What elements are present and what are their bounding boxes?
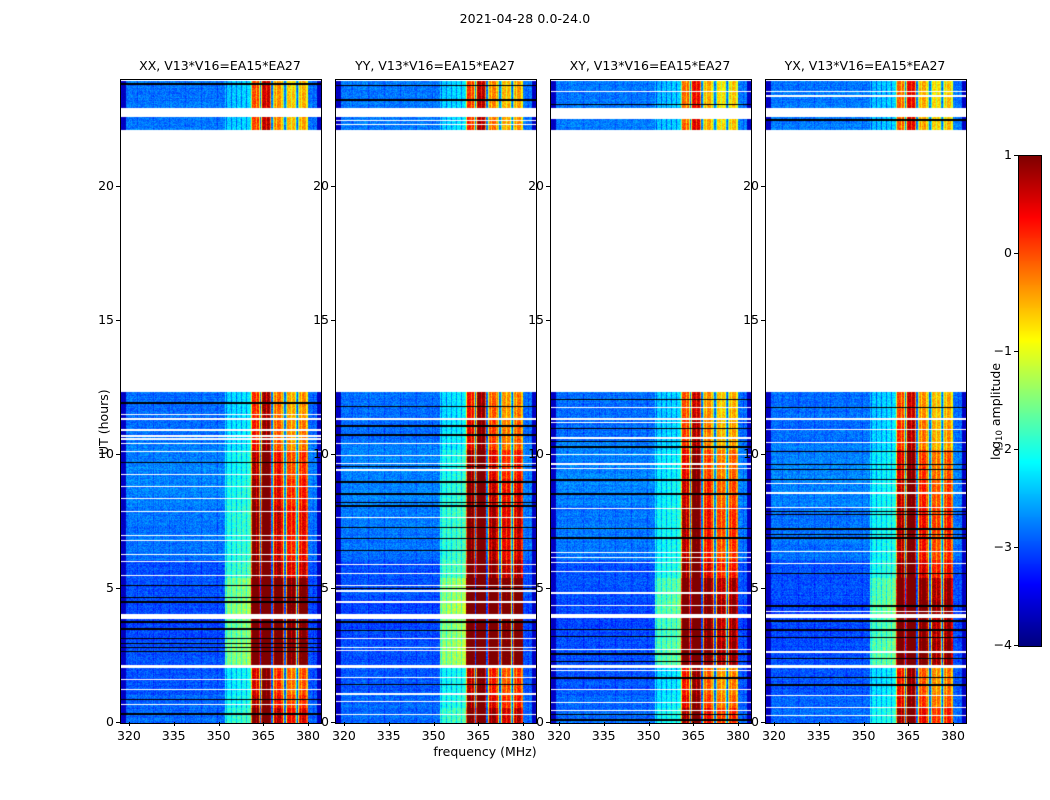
x-tick-label: 350: [629, 728, 669, 743]
x-tick-label: 350: [414, 728, 454, 743]
heatmap-image-yx: [766, 80, 966, 723]
y-tick-mark: [116, 454, 120, 455]
y-tick-mark: [331, 722, 335, 723]
y-tick-mark: [116, 186, 120, 187]
x-tick-mark: [819, 722, 820, 726]
y-tick-label: 10: [299, 446, 329, 461]
x-tick-mark: [908, 722, 909, 726]
y-tick-label: 0: [299, 714, 329, 729]
colorbar-tick-mark: [1014, 645, 1018, 646]
x-tick-mark: [129, 722, 130, 726]
y-tick-mark: [546, 588, 550, 589]
x-tick-mark: [693, 722, 694, 726]
y-tick-label: 10: [729, 446, 759, 461]
colorbar-tick-label: −2: [978, 441, 1012, 456]
colorbar-tick-mark: [1014, 547, 1018, 548]
y-tick-label: 10: [84, 446, 114, 461]
y-tick-label: 5: [514, 580, 544, 595]
y-tick-label: 5: [299, 580, 329, 595]
y-tick-mark: [761, 186, 765, 187]
x-tick-label: 320: [324, 728, 364, 743]
x-tick-label: 335: [584, 728, 624, 743]
x-tick-label: 380: [718, 728, 758, 743]
y-tick-mark: [331, 186, 335, 187]
x-tick-mark: [434, 722, 435, 726]
y-tick-label: 20: [84, 178, 114, 193]
colorbar-tick-mark: [1014, 155, 1018, 156]
colorbar-tick-label: −3: [978, 539, 1012, 554]
x-tick-mark: [559, 722, 560, 726]
x-tick-mark: [174, 722, 175, 726]
y-tick-mark: [761, 320, 765, 321]
y-tick-label: 0: [84, 714, 114, 729]
y-tick-label: 0: [729, 714, 759, 729]
y-tick-mark: [761, 588, 765, 589]
heatmap-panel-xy[interactable]: [550, 79, 752, 724]
x-tick-label: 365: [243, 728, 283, 743]
y-tick-mark: [761, 454, 765, 455]
x-tick-label: 320: [539, 728, 579, 743]
y-tick-label: 15: [299, 312, 329, 327]
figure-suptitle: 2021-04-28 0.0-24.0: [0, 11, 1050, 26]
x-tick-label: 335: [154, 728, 194, 743]
y-tick-mark: [331, 320, 335, 321]
x-tick-mark: [649, 722, 650, 726]
x-tick-label: 335: [369, 728, 409, 743]
y-tick-mark: [331, 588, 335, 589]
heatmap-image-xy: [551, 80, 751, 723]
y-tick-mark: [116, 722, 120, 723]
x-tick-mark: [344, 722, 345, 726]
x-axis-label: frequency (MHz): [385, 744, 585, 759]
colorbar-tick-mark: [1014, 351, 1018, 352]
colorbar-tick-mark: [1014, 449, 1018, 450]
y-tick-label: 15: [84, 312, 114, 327]
heatmap-panel-yy[interactable]: [335, 79, 537, 724]
x-tick-mark: [219, 722, 220, 726]
x-tick-label: 365: [458, 728, 498, 743]
y-tick-mark: [546, 722, 550, 723]
heatmap-image-xx: [121, 80, 321, 723]
x-tick-label: 335: [799, 728, 839, 743]
x-tick-label: 350: [199, 728, 239, 743]
y-tick-label: 5: [84, 580, 114, 595]
colorbar-tick-label: 0: [978, 245, 1012, 260]
x-tick-label: 350: [844, 728, 884, 743]
colorbar-tick-mark: [1014, 253, 1018, 254]
panel-title-yy: YY, V13*V16=EA15*EA27: [335, 58, 535, 73]
x-tick-label: 365: [888, 728, 928, 743]
heatmap-panel-yx[interactable]: [765, 79, 967, 724]
panel-title-xy: XY, V13*V16=EA15*EA27: [550, 58, 750, 73]
y-tick-label: 20: [299, 178, 329, 193]
y-tick-label: 10: [514, 446, 544, 461]
x-tick-label: 380: [503, 728, 543, 743]
heatmap-panel-xx[interactable]: [120, 79, 322, 724]
y-tick-mark: [116, 320, 120, 321]
panel-title-xx: XX, V13*V16=EA15*EA27: [120, 58, 320, 73]
colorbar-tick-label: −1: [978, 343, 1012, 358]
y-tick-mark: [546, 320, 550, 321]
y-tick-mark: [116, 588, 120, 589]
y-tick-label: 20: [514, 178, 544, 193]
y-tick-mark: [546, 186, 550, 187]
x-tick-mark: [478, 722, 479, 726]
x-tick-mark: [389, 722, 390, 726]
x-tick-mark: [263, 722, 264, 726]
x-tick-label: 320: [754, 728, 794, 743]
y-tick-label: 15: [514, 312, 544, 327]
x-tick-label: 380: [933, 728, 973, 743]
y-tick-label: 0: [514, 714, 544, 729]
x-tick-label: 365: [673, 728, 713, 743]
heatmap-image-yy: [336, 80, 536, 723]
x-tick-label: 320: [109, 728, 149, 743]
panel-title-yx: YX, V13*V16=EA15*EA27: [765, 58, 965, 73]
x-tick-label: 380: [288, 728, 328, 743]
y-tick-label: 20: [729, 178, 759, 193]
y-tick-mark: [331, 454, 335, 455]
colorbar-tick-label: 1: [978, 147, 1012, 162]
y-tick-label: 15: [729, 312, 759, 327]
y-tick-label: 5: [729, 580, 759, 595]
y-tick-mark: [546, 454, 550, 455]
x-tick-mark: [604, 722, 605, 726]
colorbar-gradient: [1019, 156, 1041, 646]
x-tick-mark: [953, 722, 954, 726]
colorbar[interactable]: [1018, 155, 1042, 647]
colorbar-tick-label: −4: [978, 637, 1012, 652]
y-tick-mark: [761, 722, 765, 723]
x-tick-mark: [774, 722, 775, 726]
x-tick-mark: [864, 722, 865, 726]
figure-canvas: 2021-04-28 0.0-24.0 XX, V13*V16=EA15*EA2…: [0, 0, 1050, 800]
